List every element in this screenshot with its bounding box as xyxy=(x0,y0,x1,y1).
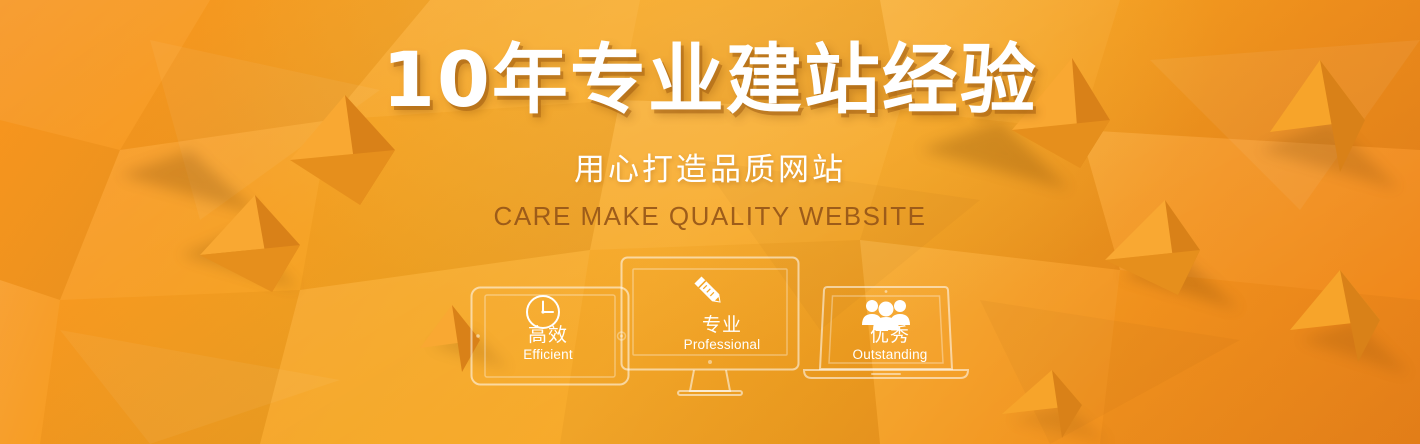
feature-card-outstanding xyxy=(802,285,970,387)
feature-card-efficient xyxy=(470,286,630,386)
subtitle-chinese: 用心打造品质网站 xyxy=(0,155,1420,186)
subtitle-english: CARE MAKE QUALITY WEBSITE xyxy=(0,203,1420,229)
feature-device-row: 高效 Efficient xyxy=(0,252,1420,402)
feature-card-professional xyxy=(620,256,800,401)
promo-banner: 10年专业建站经验 用心打造品质网站 CARE MAKE QUALITY WEB… xyxy=(0,0,1420,444)
people-group-icon xyxy=(860,297,912,335)
page-title: 10年专业建站经验 xyxy=(0,42,1420,118)
pencil-icon xyxy=(688,270,732,314)
clock-icon xyxy=(523,292,563,332)
